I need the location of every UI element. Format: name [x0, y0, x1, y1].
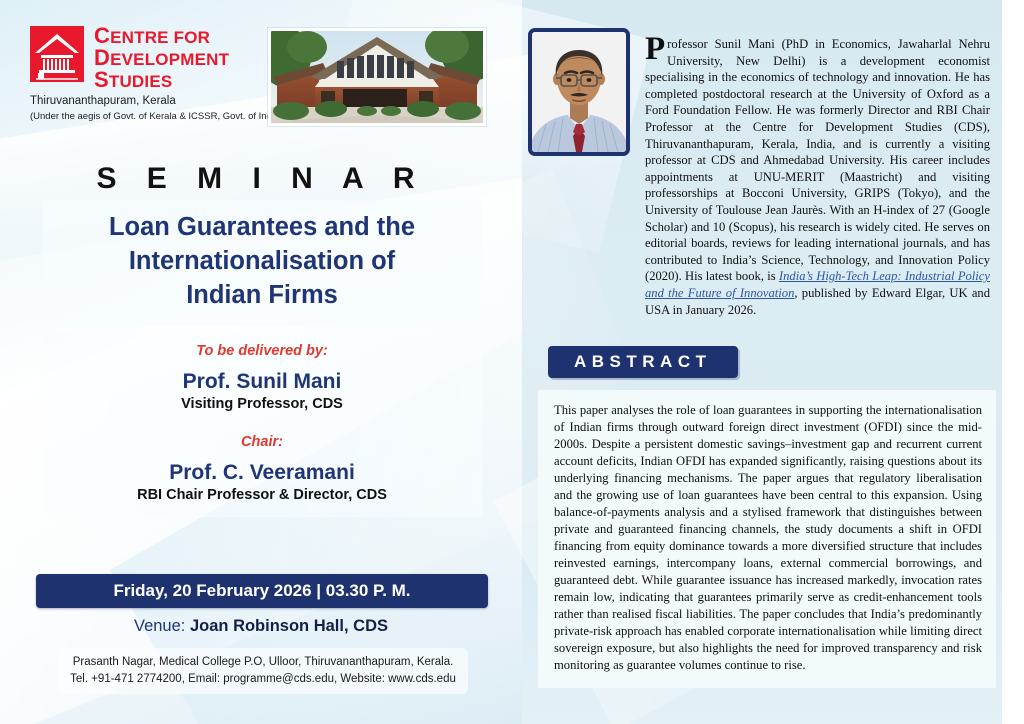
abstract-card: This paper analyses the role of loan gua…: [538, 390, 996, 688]
delivered-by-label: To be delivered by:: [42, 343, 482, 359]
speaker-bio: Professor Sunil Mani (PhD in Economics, …: [645, 36, 990, 318]
institute-logo-block: CENTRE FOR DEVELOPMENT STUDIES: [30, 26, 229, 92]
chair-label: Chair:: [42, 434, 482, 450]
footer-contact: Tel. +91-471 2774200, Email: programme@c…: [66, 671, 460, 688]
institute-name: CENTRE FOR DEVELOPMENT STUDIES: [94, 26, 229, 92]
credits-block: To be delivered by: Prof. Sunil Mani Vis…: [42, 333, 482, 517]
venue-label: Venue:: [134, 617, 185, 635]
right-white-margin: [1002, 0, 1024, 724]
bio-text-part1: rofessor Sunil Mani (PhD in Economics, J…: [645, 37, 990, 283]
seminar-title-line1: Loan Guarantees and the: [48, 210, 476, 244]
speaker-name: Prof. Sunil Mani: [42, 370, 482, 394]
institute-aegis: (Under the aegis of Govt. of Kerala & IC…: [30, 109, 282, 124]
seminar-title-line3: Indian Firms: [48, 278, 476, 312]
footer-contact-block: Prasanth Nagar, Medical College P.O, Ull…: [58, 648, 468, 694]
cds-campus-building-photo: [268, 28, 486, 126]
chair-role: RBI Chair Professor & Director, CDS: [42, 487, 482, 503]
seminar-kicker: S E M I N A R: [0, 162, 522, 196]
abstract-heading: ABSTRACT: [548, 346, 738, 378]
institute-location-block: Thiruvananthapuram, Kerala (Under the ae…: [30, 94, 282, 124]
abstract-body: This paper analyses the role of loan gua…: [554, 402, 982, 674]
seminar-poster: CENTRE FOR DEVELOPMENT STUDIES Thiruvana…: [0, 0, 1024, 724]
credits-spacer: [42, 412, 482, 434]
speaker-portrait-photo: [528, 28, 630, 156]
chair-name: Prof. C. Veeramani: [42, 461, 482, 485]
speaker-role: Visiting Professor, CDS: [42, 396, 482, 412]
cds-building-logo-icon: [30, 26, 84, 82]
institute-name-line3: STUDIES: [94, 70, 229, 92]
bio-dropcap: P: [645, 36, 667, 63]
datetime-banner: Friday, 20 February 2026 | 03.30 P. M.: [36, 574, 488, 608]
institute-location: Thiruvananthapuram, Kerala: [30, 94, 282, 109]
footer-address: Prasanth Nagar, Medical College P.O, Ull…: [66, 654, 460, 671]
seminar-title: Loan Guarantees and the Internationalisa…: [42, 200, 482, 326]
venue-name: Joan Robinson Hall, CDS: [190, 617, 388, 635]
seminar-title-line2: Internationalisation of: [48, 244, 476, 278]
venue-line: Venue: Joan Robinson Hall, CDS: [0, 617, 522, 636]
institute-name-line2: DEVELOPMENT: [94, 48, 229, 70]
institute-name-line1: CENTRE FOR: [94, 26, 229, 48]
